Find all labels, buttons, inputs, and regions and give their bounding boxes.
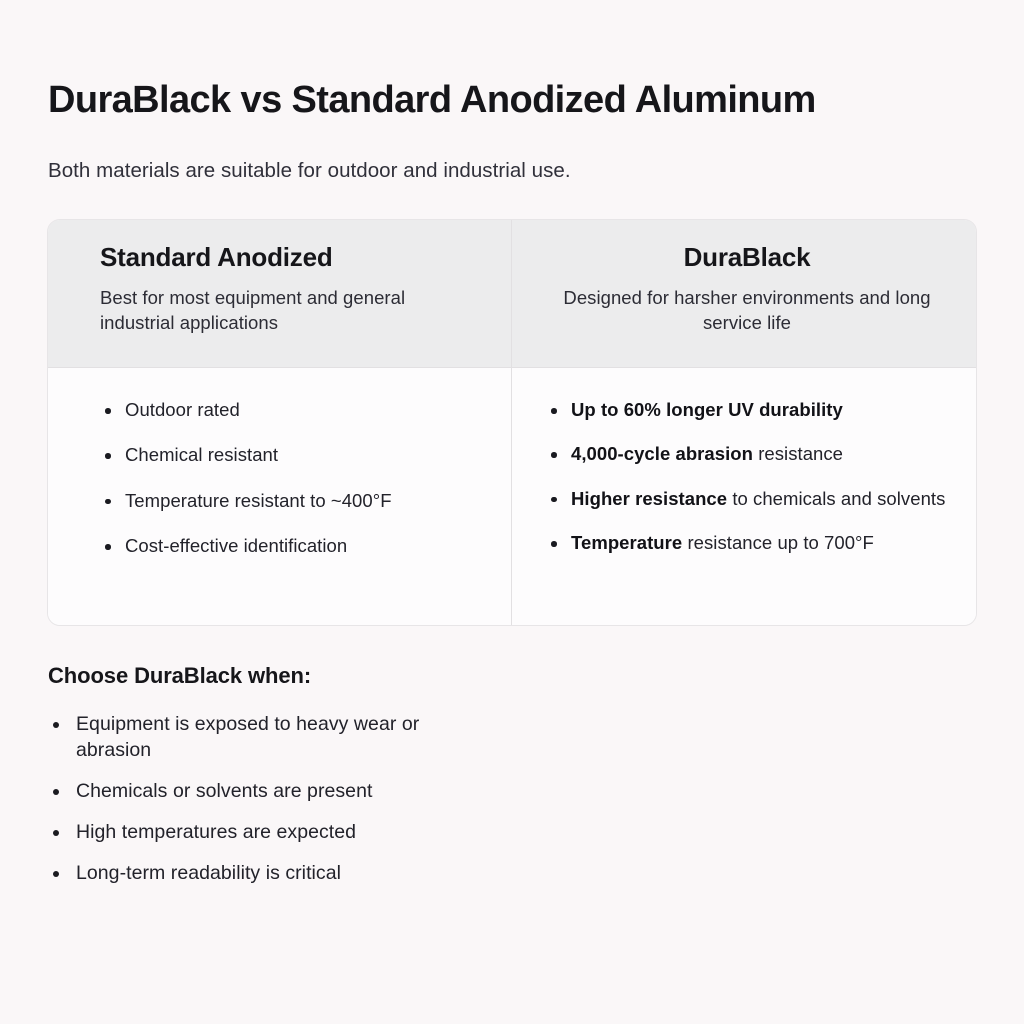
column-title-durablack: DuraBlack: [532, 242, 962, 273]
choose-list-item: Chemicals or solvents are present: [48, 779, 608, 805]
feature-item-text: Cost-effective identification: [125, 535, 347, 556]
feature-item-text: Temperature resistant to ~400°F: [125, 490, 392, 511]
column-description-standard-anodized: Best for most equipment and general indu…: [100, 285, 450, 335]
choose-section-heading: Choose DuraBlack when:: [48, 663, 311, 689]
choose-list-item: High temperatures are expected: [48, 820, 608, 846]
feature-item-text: resistance up to 700°F: [682, 532, 874, 553]
feature-item-text: to chemicals and solvents: [727, 488, 945, 509]
comparison-card: Standard Anodized Best for most equipmen…: [47, 219, 977, 626]
feature-item: Up to 60% longer UV durability: [546, 398, 962, 422]
feature-item-emphasis: Temperature: [571, 532, 682, 553]
page-subtitle: Both materials are suitable for outdoor …: [48, 158, 571, 185]
feature-item: Chemical resistant: [100, 443, 491, 467]
document-page: DuraBlack vs Standard Anodized Aluminum …: [0, 0, 1024, 1024]
feature-item: 4,000-cycle abrasion resistance: [546, 442, 962, 466]
column-header-standard-anodized: Standard Anodized Best for most equipmen…: [48, 220, 512, 367]
column-title-standard-anodized: Standard Anodized: [100, 242, 511, 273]
feature-item: Cost-effective identification: [100, 534, 491, 558]
feature-list-durablack: Up to 60% longer UV durability4,000-cycl…: [546, 398, 962, 556]
page-title: DuraBlack vs Standard Anodized Aluminum: [48, 78, 816, 123]
feature-item: Temperature resistance up to 700°F: [546, 531, 962, 555]
choose-list-item: Equipment is exposed to heavy wear or ab…: [48, 712, 476, 764]
feature-item: Temperature resistant to ~400°F: [100, 489, 491, 513]
column-header-durablack: DuraBlack Designed for harsher environme…: [512, 220, 976, 367]
feature-item: Outdoor rated: [100, 398, 491, 422]
choose-list-item: Long-term readability is critical: [48, 861, 608, 887]
feature-item-emphasis: 4,000-cycle abrasion: [571, 443, 753, 464]
comparison-card-body-row: Outdoor ratedChemical resistantTemperatu…: [48, 368, 976, 625]
feature-item-emphasis: Higher resistance: [571, 488, 727, 509]
column-description-durablack: Designed for harsher environments and lo…: [547, 285, 947, 335]
column-body-durablack: Up to 60% longer UV durability4,000-cycl…: [512, 368, 976, 625]
feature-list-standard-anodized: Outdoor ratedChemical resistantTemperatu…: [100, 398, 491, 559]
choose-section-list: Equipment is exposed to heavy wear or ab…: [48, 712, 608, 887]
feature-item: Higher resistance to chemicals and solve…: [546, 487, 962, 511]
feature-item-text: resistance: [753, 443, 843, 464]
column-body-standard-anodized: Outdoor ratedChemical resistantTemperatu…: [48, 368, 512, 625]
feature-item-text: Chemical resistant: [125, 444, 278, 465]
feature-item-text: Outdoor rated: [125, 399, 240, 420]
comparison-card-header-row: Standard Anodized Best for most equipmen…: [48, 220, 976, 368]
feature-item-emphasis: Up to 60% longer UV durability: [571, 399, 843, 420]
